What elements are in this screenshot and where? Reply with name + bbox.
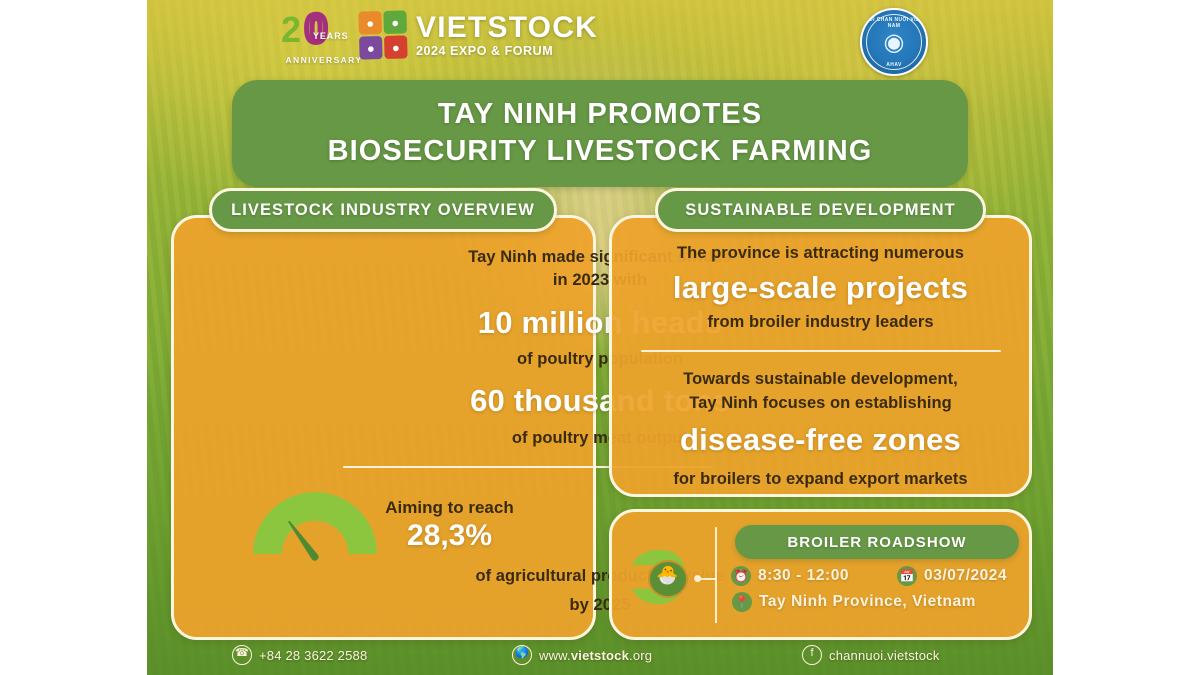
globe-icon: 🌎 [512,645,532,665]
footer-facebook-text: channuoi.vietstock [829,648,940,663]
vietstock-square-cow: ● [359,36,383,60]
poster-stage: 2 0 YEARS ANNIVERSARY ● ● ● ● VIETSTOCK … [0,0,1200,675]
poster-title-banner: TAY NINH PROMOTES BIOSECURITY LIVESTOCK … [232,80,968,187]
broiler-roadshow-pill: BROILER ROADSHOW [735,525,1019,559]
map-pin-icon: 📍 [732,592,752,612]
vietstock-square-poultry: ● [358,11,382,35]
right-card-divider [641,350,1001,352]
website-brand: vietstock [571,648,629,663]
website-suffix: .org [629,648,652,663]
anniversary-20-icon: 2 0 [279,9,365,49]
poster-header: 2 0 YEARS ANNIVERSARY ● ● ● ● VIETSTOCK … [147,0,1053,82]
gauge-chart-icon [253,492,377,560]
chicken-logo-icon: 🐣 [629,546,695,608]
gauge-readout: Aiming to reach 28,3% [385,498,513,554]
vietstock-subtitle: 2024 EXPO & FORUM [416,45,598,58]
vietstock-wordmark: VIETSTOCK 2024 EXPO & FORUM [416,13,598,58]
phone-icon: ☎ [232,645,252,665]
vietstock-name: VIETSTOCK [416,13,598,43]
vietstock-squares-icon: ● ● ● ● [358,10,407,59]
gauge-label: Aiming to reach [385,498,513,518]
footer-phone: ☎ +84 28 3622 2588 [232,645,367,665]
right-highlight-1: large-scale projects [609,270,1032,307]
event-vertical-rule [715,527,717,623]
vietstock-logo: ● ● ● ● VIETSTOCK 2024 EXPO & FORUM [359,11,598,59]
website-prefix: www. [539,648,571,663]
sustainable-development-pill: SUSTAINABLE DEVELOPMENT [655,188,986,232]
vietstock-square-pig: ● [383,10,407,34]
right-line-5: for broilers to expand export markets [609,468,1032,491]
footer-facebook[interactable]: f channuoi.vietstock [802,645,940,665]
livestock-overview-pill: LIVESTOCK INDUSTRY OVERVIEW [209,188,557,232]
association-top-text: HOI CHAN NUOI VIET NAM [862,17,926,29]
svg-text:2: 2 [281,9,301,49]
event-location: Tay Ninh Province, Vietnam [759,593,976,611]
event-time: 8:30 - 12:00 [758,567,849,585]
page-title-line-2: BIOSECURITY LIVESTOCK FARMING [252,133,948,170]
footer-website[interactable]: 🌎 www.vietstock.org [512,645,652,665]
right-line-1: The province is attracting numerous [609,242,1032,265]
animal-husbandry-association-logo: HOI CHAN NUOI VIET NAM ◉ AHAV [860,8,928,76]
gauge-value: 28,3% [385,518,513,554]
right-line-3: Towards sustainable development, [609,368,1032,391]
right-line-4: Tay Ninh focuses on establishing [609,392,1032,415]
facebook-icon: f [802,645,822,665]
calendar-icon: 📅 [897,566,917,586]
right-highlight-2: disease-free zones [609,422,1032,459]
anniversary-years-label: YEARS [313,31,349,41]
footer-phone-text: +84 28 3622 2588 [259,648,367,663]
globe-icon: ◉ [884,31,905,55]
chicken-silhouette-icon: 🐣 [656,566,678,584]
right-line-2: from broiler industry leaders [609,311,1032,334]
footer-website-text[interactable]: www.vietstock.org [539,648,652,663]
agricultural-value-gauge-row: Aiming to reach 28,3% [171,486,596,566]
event-details: ⏰ 8:30 - 12:00 📅 03/07/2024 📍 Tay Ninh P… [731,566,1031,618]
poster-canvas: 2 0 YEARS ANNIVERSARY ● ● ● ● VIETSTOCK … [147,0,1053,675]
poster-footer: ☎ +84 28 3622 2588 🌎 www.vietstock.org f… [147,635,1053,675]
event-time-date-row: ⏰ 8:30 - 12:00 📅 03/07/2024 [731,566,1031,586]
svg-text:0: 0 [305,9,327,49]
anniversary-logo: 2 0 YEARS ANNIVERSARY [273,7,371,69]
page-title-line-1: TAY NINH PROMOTES [252,96,948,133]
anniversary-word-label: ANNIVERSARY [281,55,367,65]
vietstock-square-chicken: ● [384,35,408,59]
event-date: 03/07/2024 [924,567,1007,585]
association-bottom-text: AHAV [862,62,926,68]
event-location-row: 📍 Tay Ninh Province, Vietnam [732,592,1031,612]
clock-icon: ⏰ [731,566,751,586]
